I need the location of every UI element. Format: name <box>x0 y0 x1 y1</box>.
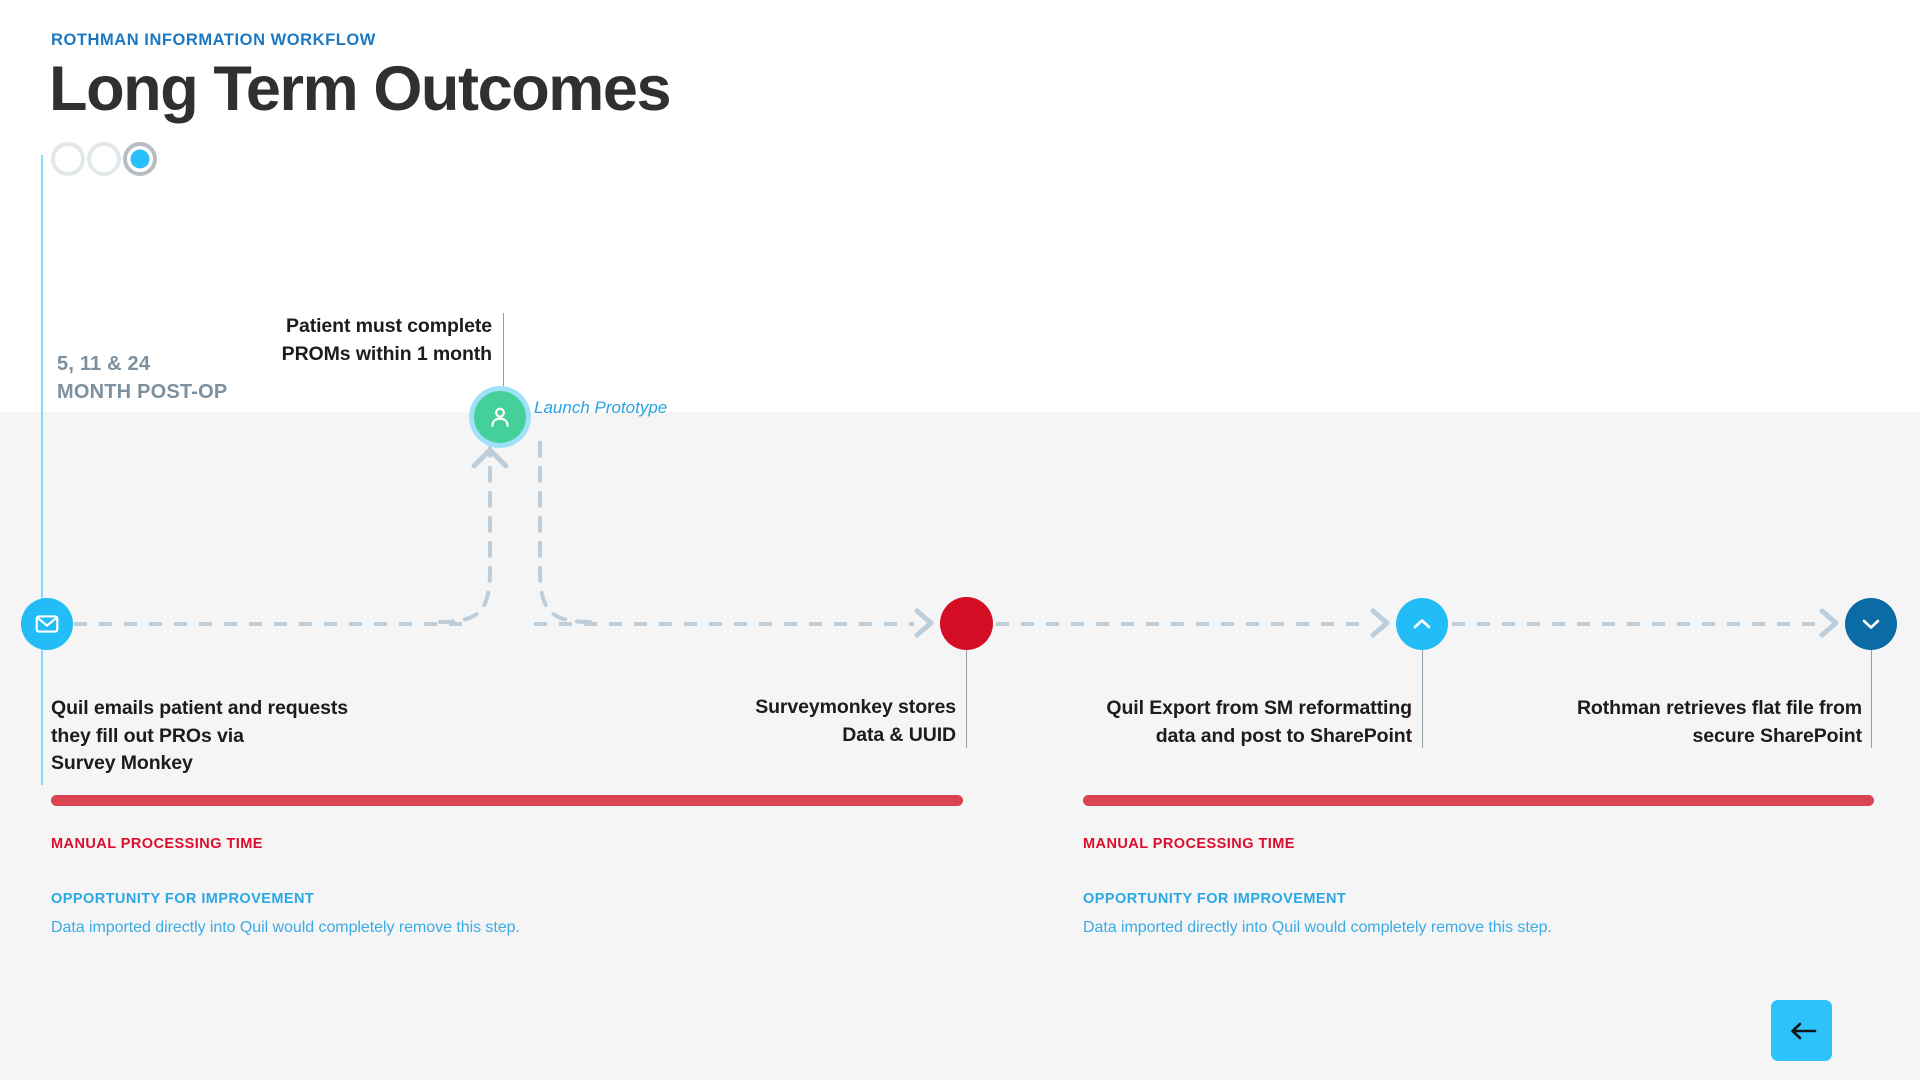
person-icon <box>487 404 513 430</box>
page-title: Long Term Outcomes <box>49 54 670 126</box>
node-email[interactable] <box>21 598 73 650</box>
node-connector-quil-export <box>1422 648 1423 748</box>
caption-line: Survey Monkey <box>51 750 411 778</box>
node-caption-quil-export: Quil Export from SM reformatting data an… <box>1000 695 1412 750</box>
node-caption-surveymonkey: Surveymonkey stores Data & UUID <box>646 694 956 749</box>
progress-dot-1[interactable] <box>51 142 85 176</box>
chevron-down-icon <box>1859 612 1883 636</box>
node-quil-export[interactable] <box>1396 598 1448 650</box>
node-rothman-retrieve[interactable] <box>1845 598 1897 650</box>
flow-rail-segment-1 <box>74 622 464 626</box>
breadcrumb-eyebrow: ROTHMAN INFORMATION WORKFLOW <box>51 31 376 50</box>
manual-processing-title: MANUAL PROCESSING TIME <box>51 836 963 852</box>
launch-prototype-link[interactable]: Launch Prototype <box>534 398 667 418</box>
manual-processing-block-left: MANUAL PROCESSING TIME OPPORTUNITY FOR I… <box>51 795 963 937</box>
node-connector-rothman <box>1871 648 1872 748</box>
node-patient[interactable] <box>474 391 526 443</box>
progress-step-dots[interactable] <box>51 142 157 176</box>
phase-label-line-1: 5, 11 & 24 <box>57 350 227 378</box>
opportunity-body: Data imported directly into Quil would c… <box>1083 919 1874 937</box>
node-surveymonkey[interactable] <box>940 597 993 650</box>
flow-rail-segment-4 <box>1452 622 1817 626</box>
caption-line: they fill out PROs via <box>51 723 411 751</box>
workflow-canvas: ROTHMAN INFORMATION WORKFLOW Long Term O… <box>0 0 1920 1080</box>
prototype-note-connector <box>503 313 504 401</box>
manual-processing-bar <box>1083 795 1874 806</box>
caption-line: Data & UUID <box>646 722 956 750</box>
timeline-phase-label: 5, 11 & 24 MONTH POST-OP <box>57 350 227 407</box>
phase-label-line-2: MONTH POST-OP <box>57 378 227 406</box>
envelope-icon <box>34 611 60 637</box>
manual-processing-bar <box>51 795 963 806</box>
node-caption-email: Quil emails patient and requests they fi… <box>51 695 411 778</box>
caption-line: Quil emails patient and requests <box>51 695 411 723</box>
caption-line: secure SharePoint <box>1470 723 1862 751</box>
opportunity-body: Data imported directly into Quil would c… <box>51 919 963 937</box>
progress-dot-3-active[interactable] <box>123 142 157 176</box>
flow-arrowhead-icon <box>1369 607 1391 639</box>
chevron-up-icon <box>1410 612 1434 636</box>
manual-processing-title: MANUAL PROCESSING TIME <box>1083 836 1874 852</box>
opportunity-title: OPPORTUNITY FOR IMPROVEMENT <box>51 891 963 907</box>
timeline-accent-line <box>41 155 43 622</box>
prototype-note-line-1: Patient must complete <box>272 313 492 341</box>
caption-line: data and post to SharePoint <box>1000 723 1412 751</box>
prototype-note-line-2: PROMs within 1 month <box>272 341 492 369</box>
arrow-left-icon <box>1787 1020 1817 1042</box>
timeline-accent-line-lower <box>41 640 43 785</box>
caption-line: Quil Export from SM reformatting <box>1000 695 1412 723</box>
back-button[interactable] <box>1771 1000 1832 1061</box>
caption-line: Surveymonkey stores <box>646 694 956 722</box>
opportunity-title: OPPORTUNITY FOR IMPROVEMENT <box>1083 891 1874 907</box>
branch-connector <box>440 430 590 630</box>
progress-dot-2[interactable] <box>87 142 121 176</box>
node-caption-rothman: Rothman retrieves flat file from secure … <box>1470 695 1862 750</box>
flow-rail-segment-3 <box>996 622 1368 626</box>
node-connector-surveymonkey <box>966 648 967 748</box>
prototype-note: Patient must complete PROMs within 1 mon… <box>272 313 492 368</box>
caption-line: Rothman retrieves flat file from <box>1470 695 1862 723</box>
flow-arrowhead-icon <box>913 607 935 639</box>
manual-processing-block-right: MANUAL PROCESSING TIME OPPORTUNITY FOR I… <box>1083 795 1874 937</box>
flow-arrowhead-icon <box>1818 607 1840 639</box>
